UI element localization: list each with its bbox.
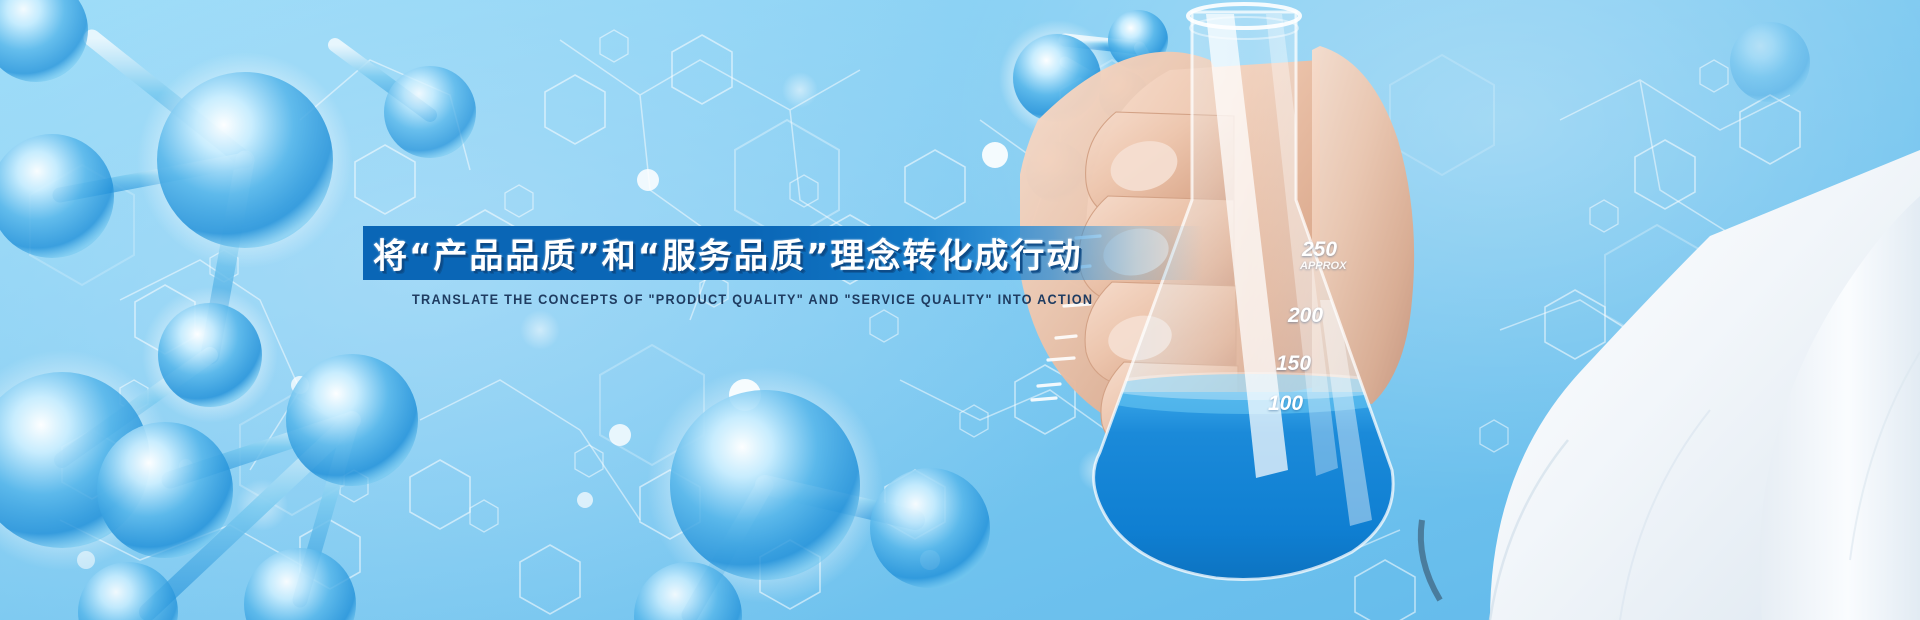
headline-banner-bar: 将“产品品质”和“服务品质”理念转化成行动 bbox=[363, 226, 1203, 280]
headline-chinese: 将“产品品质”和“服务品质”理念转化成行动 bbox=[373, 229, 1082, 278]
subtitle-english: TRANSLATE THE CONCEPTS OF "PRODUCT QUALI… bbox=[412, 292, 1093, 307]
hand-holding-flask-photo bbox=[1020, 0, 1920, 620]
hero-banner: 250 APPROX 200 150 100 将“产品品质”和“服务品质”理念转… bbox=[0, 0, 1920, 620]
headline-block: 将“产品品质”和“服务品质”理念转化成行动 bbox=[363, 226, 1203, 280]
